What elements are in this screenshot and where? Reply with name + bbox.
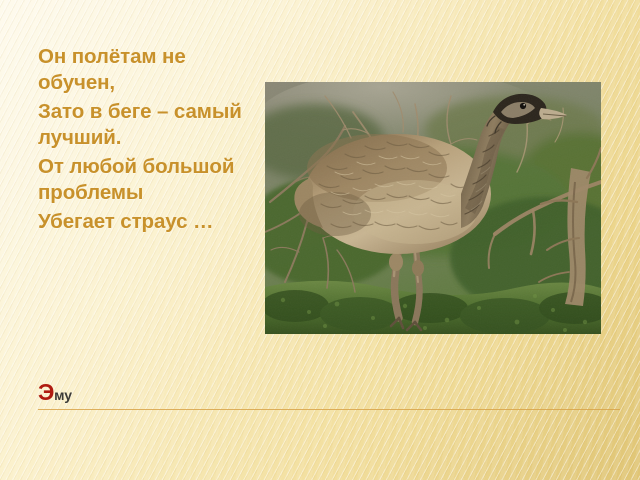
answer-remaining-letters: му xyxy=(54,387,72,403)
riddle-text-block: Он полётам не обучен, Зато в беге – самы… xyxy=(38,44,253,236)
slide-canvas: Он полётам не обучен, Зато в беге – самы… xyxy=(0,0,640,480)
riddle-line-1: Он полётам не обучен, xyxy=(38,44,253,95)
answer-block: Эму xyxy=(38,381,620,410)
riddle-line-4: Убегает страус … xyxy=(38,209,253,235)
horizontal-rule-divider xyxy=(38,409,620,410)
emu-photograph xyxy=(265,82,601,334)
riddle-line-2: Зато в беге – самый лучший. xyxy=(38,99,253,150)
riddle-line-3: От любой большой проблемы xyxy=(38,154,253,205)
answer-text: Эму xyxy=(38,381,620,404)
emu-photo-artwork xyxy=(265,82,601,334)
answer-initial-letter: Э xyxy=(38,379,54,405)
